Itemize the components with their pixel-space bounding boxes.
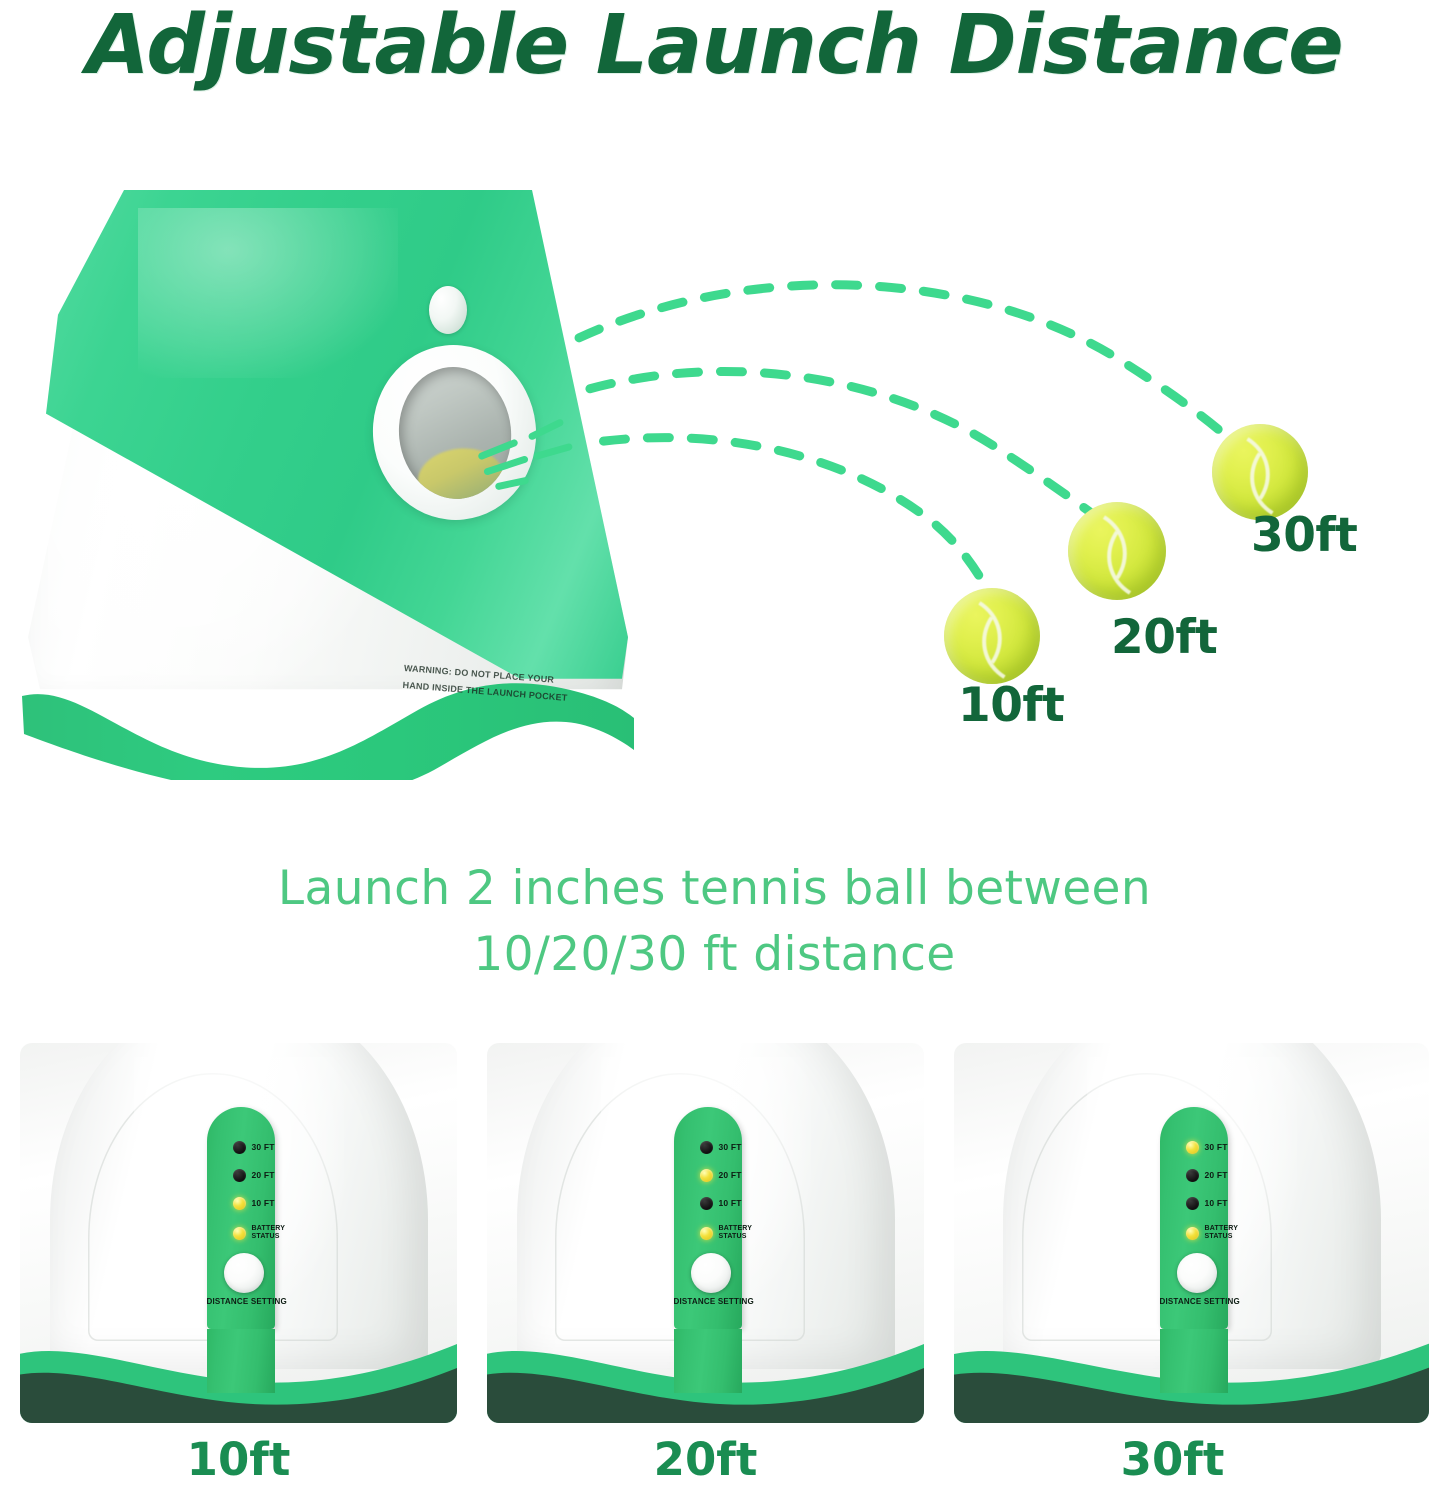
tennis-ball-30ft <box>1212 424 1308 520</box>
distance-label-10ft: 10ft <box>958 678 1064 733</box>
led-row-battery: BATTERY STATUS <box>1186 1225 1239 1241</box>
product-infographic: Adjustable Launch Distance <box>0 0 1429 1500</box>
led-label-10ft: 10 FT <box>1205 1199 1228 1208</box>
led-row-battery: BATTERY STATUS <box>233 1225 286 1241</box>
led-label-battery: BATTERY STATUS <box>252 1225 286 1241</box>
led-label-10ft: 10 FT <box>252 1199 275 1208</box>
caption-10ft: 10ft <box>20 1432 457 1488</box>
distance-label-20ft: 20ft <box>1111 610 1217 665</box>
led-row-battery: BATTERY STATUS <box>700 1225 753 1241</box>
control-strip-10ft: 30 FT 20 FT 10 FT BATTERY STATUS DISTANC… <box>207 1107 275 1329</box>
led-battery-status <box>233 1227 246 1240</box>
led-30ft <box>233 1141 246 1154</box>
panel-captions: 10ft 20ft 30ft <box>0 1432 1429 1498</box>
panel-30ft: 30 FT 20 FT 10 FT BATTERY STATUS DISTANC… <box>954 1043 1429 1423</box>
subtitle-line-2: 10/20/30 ft distance <box>0 922 1429 988</box>
led-row-30ft: 30 FT <box>1186 1141 1228 1154</box>
led-battery-status <box>1186 1227 1199 1240</box>
tennis-ball-10ft <box>944 588 1040 684</box>
control-strip-20ft: 30 FT 20 FT 10 FT BATTERY STATUS DISTANC… <box>674 1107 742 1329</box>
led-10ft <box>1186 1197 1199 1210</box>
led-row-20ft: 20 FT <box>700 1169 742 1182</box>
distance-setting-button[interactable] <box>1177 1253 1217 1293</box>
panel-20ft: 30 FT 20 FT 10 FT BATTERY STATUS DISTANC… <box>487 1043 924 1423</box>
led-label-30ft: 30 FT <box>719 1143 742 1152</box>
distance-setting-button[interactable] <box>224 1253 264 1293</box>
led-10ft <box>700 1197 713 1210</box>
led-row-30ft: 30 FT <box>700 1141 742 1154</box>
led-row-20ft: 20 FT <box>1186 1169 1228 1182</box>
distance-setting-button[interactable] <box>691 1253 731 1293</box>
led-row-30ft: 30 FT <box>233 1141 275 1154</box>
launch-motion-lines <box>473 390 593 500</box>
led-label-20ft: 20 FT <box>252 1171 275 1180</box>
led-label-30ft: 30 FT <box>252 1143 275 1152</box>
control-strip-30ft: 30 FT 20 FT 10 FT BATTERY STATUS DISTANC… <box>1160 1107 1228 1329</box>
led-label-battery: BATTERY STATUS <box>719 1225 753 1241</box>
led-20ft <box>700 1169 713 1182</box>
arc-30-path <box>540 285 1248 456</box>
led-row-10ft: 10 FT <box>700 1197 742 1210</box>
subtitle: Launch 2 inches tennis ball between 10/2… <box>0 856 1429 988</box>
control-strip-lower <box>1160 1329 1228 1393</box>
panel-10ft: 30 FT 20 FT 10 FT BATTERY STATUS DISTANC… <box>20 1043 457 1423</box>
led-row-10ft: 10 FT <box>1186 1197 1228 1210</box>
control-strip-lower <box>674 1329 742 1393</box>
led-30ft <box>700 1141 713 1154</box>
led-row-10ft: 10 FT <box>233 1197 275 1210</box>
page-title: Adjustable Launch Distance <box>0 2 1429 90</box>
control-panel-gallery: 30 FT 20 FT 10 FT BATTERY STATUS DISTANC… <box>0 1043 1429 1423</box>
distance-setting-label: DISTANCE SETTING <box>207 1297 275 1306</box>
tennis-ball-20ft <box>1068 502 1166 600</box>
led-10ft <box>233 1197 246 1210</box>
ball-launcher-device: WARNING: DO NOT PLACE YOUR HAND INSIDE T… <box>18 190 638 790</box>
led-label-battery: BATTERY STATUS <box>1205 1225 1239 1241</box>
led-label-30ft: 30 FT <box>1205 1143 1228 1152</box>
led-20ft <box>1186 1169 1199 1182</box>
distance-setting-label: DISTANCE SETTING <box>674 1297 742 1306</box>
control-strip-lower <box>207 1329 275 1393</box>
led-label-20ft: 20 FT <box>1205 1171 1228 1180</box>
led-label-20ft: 20 FT <box>719 1171 742 1180</box>
led-row-20ft: 20 FT <box>233 1169 275 1182</box>
led-30ft <box>1186 1141 1199 1154</box>
caption-30ft: 30ft <box>954 1432 1391 1488</box>
subtitle-line-1: Launch 2 inches tennis ball between <box>0 856 1429 922</box>
hero-illustration: WARNING: DO NOT PLACE YOUR HAND INSIDE T… <box>0 120 1429 820</box>
distance-label-30ft: 30ft <box>1251 508 1357 563</box>
led-battery-status <box>700 1227 713 1240</box>
led-label-10ft: 10 FT <box>719 1199 742 1208</box>
distance-setting-label: DISTANCE SETTING <box>1160 1297 1228 1306</box>
led-20ft <box>233 1169 246 1182</box>
motion-sensor-dome <box>429 286 467 334</box>
caption-20ft: 20ft <box>487 1432 924 1488</box>
